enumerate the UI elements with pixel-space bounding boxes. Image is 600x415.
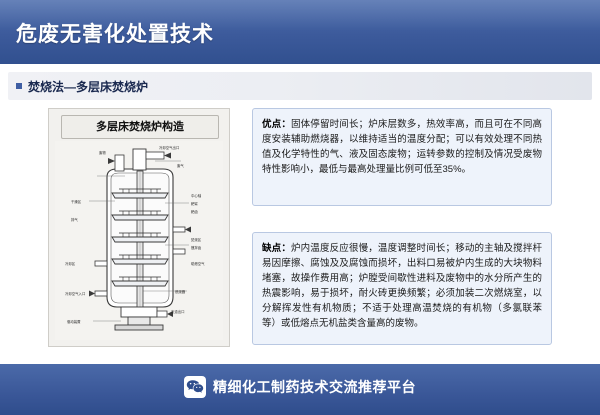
figure-label-rabble-teeth: 耙齿 (191, 209, 198, 214)
section-subheading-label: 焚烧法—多层床焚烧炉 (28, 78, 148, 95)
figure-caption: 多层床焚烧炉构造 (61, 115, 219, 139)
slide-title-band: 危废无害化处置技术 (0, 0, 600, 64)
multiple-hearth-incinerator-drawing: 冷却空气出口 废气 废物 干燥区 排气 中心轴 耙臂 耙齿 焚烧区 搅拌齿 助燃… (55, 141, 223, 340)
slide-footer-band: 精细化工制药技术交流推荐平台 (0, 364, 600, 415)
figure-diagram: 冷却空气出口 废气 废物 干燥区 排气 中心轴 耙臂 耙齿 焚烧区 搅拌齿 助燃… (55, 141, 223, 340)
figure-label-drive-unit: 驱动装置 (67, 319, 81, 324)
callout-disadvantages: 缺点：炉内温度反应很慢，温度调整时间长；移动的主轴及搅拌杆易因摩擦、腐蚀及及腐蚀… (252, 232, 552, 345)
figure-label-rabble-arm: 耙臂 (191, 201, 198, 206)
figure-label-combustion-air: 助燃空气 (191, 261, 205, 266)
figure-label-ash-outlet: 灰渣出口 (171, 309, 185, 314)
page-title: 危废无害化处置技术 (16, 18, 214, 48)
callout-advantages: 优点：固体停留时间长；炉床层数多，热效率高，而且可在不同高度安装辅助燃烧器，以维… (252, 108, 552, 206)
footer-branding: 精细化工制药技术交流推荐平台 (184, 376, 416, 398)
figure-label-exhaust: 废气 (177, 163, 184, 168)
figure-label-waste: 废物 (99, 150, 106, 155)
callout-disadvantages-lead: 缺点： (262, 243, 291, 254)
callout-disadvantages-text: 缺点：炉内温度反应很慢，温度调整时间长；移动的主轴及搅拌杆易因摩擦、腐蚀及及腐蚀… (262, 241, 542, 331)
footer-text: 精细化工制药技术交流推荐平台 (213, 377, 416, 397)
callout-advantages-text: 优点：固体停留时间长；炉床层数多，热效率高，而且可在不同高度安装辅助燃烧器，以维… (262, 117, 542, 177)
callout-advantages-body: 固体停留时间长；炉床层数多，热效率高，而且可在不同高度安装辅助燃烧器，以维持适当… (262, 119, 542, 175)
figure-label-cooling-air-inlet: 冷却空气入口 (65, 291, 85, 296)
figure-label-stirring-teeth: 搅拌齿 (191, 245, 202, 250)
figure-panel: 多层床焚烧炉构造 (48, 108, 230, 347)
figure-label-center-shaft: 中心轴 (191, 193, 202, 198)
figure-label-combustion-zone: 焚烧区 (191, 237, 202, 242)
figure-label-burner: 燃烧器 (175, 289, 186, 294)
wechat-icon (184, 376, 206, 398)
figure-label-cooling-zone: 冷却区 (65, 261, 76, 266)
figure-label-cooling-air-outlet: 冷却空气出口 (159, 145, 179, 150)
figure-label-drying-zone: 干燥区 (71, 199, 82, 204)
square-bullet-icon (16, 83, 22, 89)
callout-disadvantages-body: 炉内温度反应很慢，温度调整时间长；移动的主轴及搅拌杆易因摩擦、腐蚀及及腐蚀而损坏… (262, 243, 542, 329)
slide-root: 危废无害化处置技术 焚烧法—多层床焚烧炉 多层床焚烧炉构造 (0, 0, 600, 415)
slide-body: 焚烧法—多层床焚烧炉 多层床焚烧炉构造 (0, 64, 600, 364)
callout-advantages-lead: 优点： (262, 119, 291, 130)
figure-label-exhaust-2: 排气 (71, 217, 78, 222)
section-subheading: 焚烧法—多层床焚烧炉 (8, 72, 592, 100)
